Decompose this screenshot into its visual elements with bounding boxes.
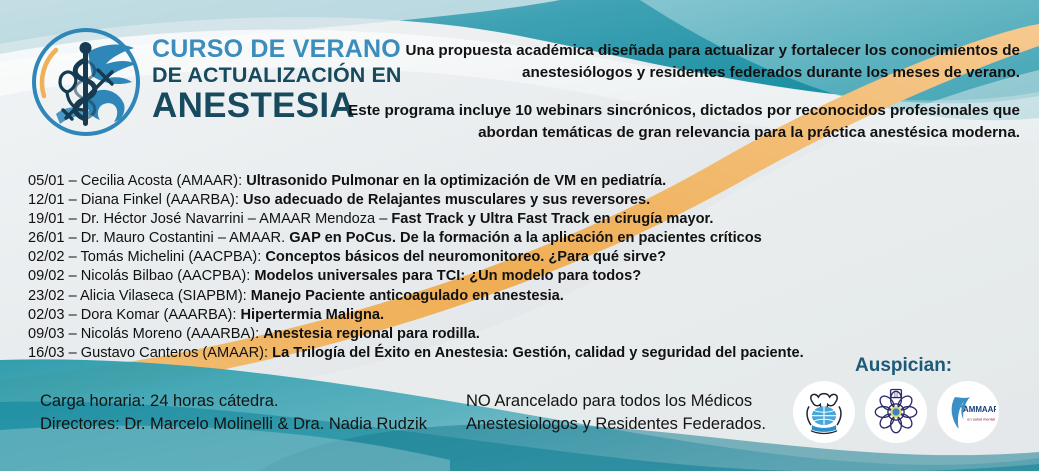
- sponsor-logos: II AMMAAR en salud mental: [793, 381, 999, 443]
- schedule-row: 09/02 – Nicolás Bilbao (AACPBA): Modelos…: [28, 267, 1018, 286]
- schedule-row-topic: Modelos universales para TCI: ¿Un modelo…: [254, 268, 641, 284]
- schedule-row-topic: GAP en PoCus. De la formación a la aplic…: [289, 230, 762, 246]
- schedule-row-lead: 02/02 – Tomás Michelini (AACPBA):: [28, 249, 265, 265]
- schedule-row: 23/02 – Alicia Vilaseca (SIAPBM): Manejo…: [28, 287, 1018, 306]
- schedule-row: 02/02 – Tomás Michelini (AACPBA): Concep…: [28, 248, 1018, 267]
- schedule-row: 09/03 – Nicolás Moreno (AAARBA): Anestes…: [28, 325, 1018, 344]
- course-hours: Carga horaria: 24 horas cátedra.: [40, 390, 427, 413]
- schedule-row-lead: 12/01 – Diana Finkel (AAARBA):: [28, 192, 243, 208]
- schedule-row: 26/01 – Dr. Mauro Costantini – AMAAR. GA…: [28, 229, 1018, 248]
- schedule-row-lead: 02/03 – Dora Komar (AAARBA):: [28, 307, 241, 323]
- header-paragraph-1: Una propuesta académica diseñada para ac…: [330, 40, 1020, 83]
- schedule-row-lead: 16/03 – Gustavo Canteros (AMAAR):: [28, 345, 272, 361]
- schedule-row-lead: 09/03 – Nicolás Moreno (AAARBA):: [28, 326, 263, 342]
- schedule-row-lead: 05/01 – Cecilia Acosta (AMAAR):: [28, 173, 246, 189]
- webinar-schedule-list: 05/01 – Cecilia Acosta (AMAAR): Ultrason…: [28, 172, 1018, 363]
- schedule-row-topic: Conceptos básicos del neuromonitoreo. ¿P…: [265, 249, 666, 265]
- schedule-row-topic: Fast Track y Ultra Fast Track en cirugía…: [391, 211, 713, 227]
- footer-left-block: Carga horaria: 24 horas cátedra. Directo…: [40, 390, 427, 436]
- fee-note-line-1: NO Arancelado para todos los Médicos: [466, 390, 766, 413]
- schedule-row: 19/01 – Dr. Héctor José Navarrini – AMAA…: [28, 210, 1018, 229]
- course-directors: Directores: Dr. Marcelo Molinelli & Dra.…: [40, 413, 427, 436]
- schedule-row-lead: 19/01 – Dr. Héctor José Navarrini – AMAA…: [28, 211, 391, 227]
- schedule-row-lead: 09/02 – Nicolás Bilbao (AACPBA):: [28, 268, 254, 284]
- schedule-row-topic: Ultrasonido Pulmonar en la optimización …: [246, 173, 666, 189]
- schedule-row-lead: 23/02 – Alicia Vilaseca (SIAPBM):: [28, 288, 251, 304]
- schedule-row-topic: Anestesia regional para rodilla.: [263, 326, 480, 342]
- fee-note-line-2: Anestesiologos y Residentes Federados.: [466, 413, 766, 436]
- schedule-row-topic: Hipertermia Maligna.: [241, 307, 385, 323]
- sponsor-logo-ammaar: AMMAAR en salud mental: [937, 381, 999, 443]
- schedule-row-topic: Manejo Paciente anticoagulado en anestes…: [251, 288, 564, 304]
- sponsor-logo-flower: II: [865, 381, 927, 443]
- footer-right-block: NO Arancelado para todos los Médicos Ane…: [466, 390, 766, 436]
- schedule-row: 12/01 – Diana Finkel (AAARBA): Uso adecu…: [28, 191, 1018, 210]
- schedule-row-lead: 26/01 – Dr. Mauro Costantini – AMAAR.: [28, 230, 289, 246]
- sponsors-label: Auspician:: [855, 355, 952, 377]
- sponsor-logo-crest: [793, 381, 855, 443]
- svg-text:II: II: [894, 391, 898, 398]
- schedule-row-topic: La Trilogía del Éxito en Anestesia: Gest…: [272, 345, 803, 361]
- svg-text:AMMAAR: AMMAAR: [963, 405, 996, 414]
- header-paragraph-2: Este programa incluye 10 webinars sincró…: [330, 100, 1020, 143]
- caduceus-emblem-icon: [26, 22, 146, 142]
- schedule-row: 05/01 – Cecilia Acosta (AMAAR): Ultrason…: [28, 172, 1018, 191]
- schedule-row: 02/03 – Dora Komar (AAARBA): Hipertermia…: [28, 306, 1018, 325]
- schedule-row-topic: Uso adecuado de Relajantes musculares y …: [243, 192, 650, 208]
- flyer-canvas: CURSO DE VERANO DE ACTUALIZACIÓN EN ANES…: [0, 0, 1039, 471]
- svg-text:en salud mental: en salud mental: [967, 416, 995, 421]
- header-description: Una propuesta académica diseñada para ac…: [330, 40, 1020, 143]
